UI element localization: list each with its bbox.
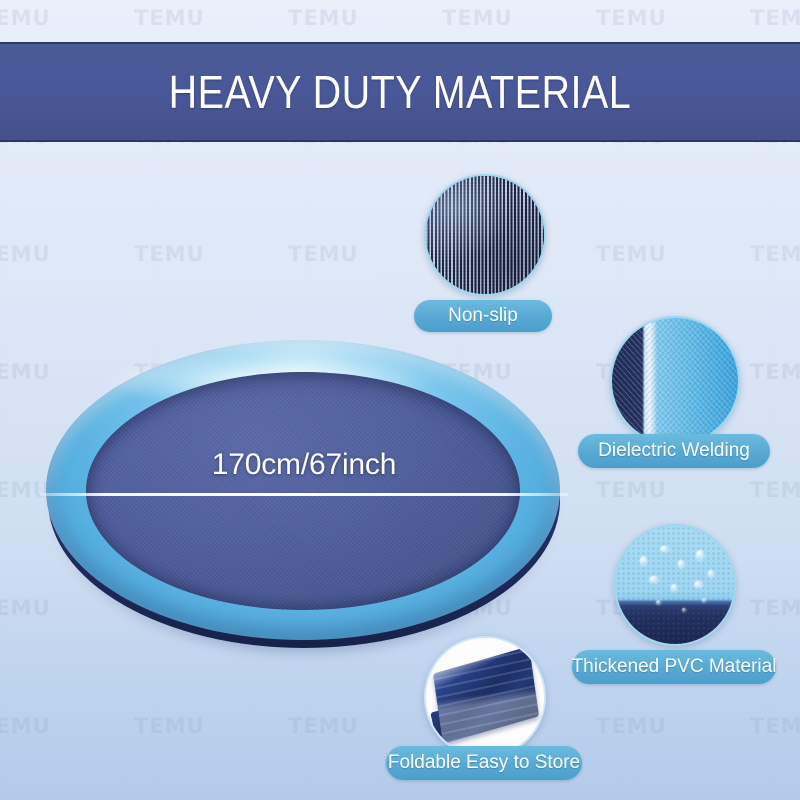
water-droplet: [656, 600, 661, 605]
callout-thickened-pvc: Thickened PVC Material: [614, 524, 736, 646]
watermark-text: TEMU: [750, 360, 800, 384]
water-droplet: [682, 608, 686, 612]
watermark-text: TEMU: [0, 6, 51, 30]
watermark-text: TEMU: [442, 6, 513, 30]
watermark-text: TEMU: [750, 242, 800, 266]
page-title: HEAVY DUTY MATERIAL: [169, 65, 631, 119]
callout-label-thickened-pvc: Thickened PVC Material: [572, 650, 776, 684]
dimension-line: [40, 493, 568, 496]
watermark-text: TEMU: [596, 478, 667, 502]
watermark-text: TEMU: [134, 6, 205, 30]
watermark-text: TEMU: [0, 714, 51, 738]
callout-non-slip: Non-slip: [424, 174, 546, 296]
watermark-text: TEMU: [750, 714, 800, 738]
weld-seam-icon: [610, 316, 740, 446]
callout-dielectric-welding: Dielectric Welding: [610, 316, 740, 446]
water-droplet-layers-icon: [614, 524, 736, 646]
folded-sheet-icon: [424, 636, 546, 758]
watermark-text: TEMU: [596, 714, 667, 738]
water-droplet: [696, 550, 704, 561]
water-droplet: [640, 556, 647, 566]
callout-label-foldable: Foldable Easy to Store: [386, 746, 582, 780]
mesh-shading-layer: [426, 176, 544, 294]
water-droplet: [649, 576, 659, 583]
infographic-canvas: TEMUTEMUTEMUTEMUTEMUTEMUTEMUTEMUTEMUTEMU…: [0, 0, 800, 800]
watermark-text: TEMU: [750, 478, 800, 502]
watermark-text: TEMU: [288, 6, 359, 30]
watermark-text: TEMU: [0, 242, 51, 266]
product-splash-surface: [86, 372, 520, 610]
callout-label-dielectric-welding: Dielectric Welding: [578, 434, 770, 468]
callout-label-non-slip: Non-slip: [414, 300, 552, 332]
water-droplet: [678, 560, 684, 569]
header-banner: HEAVY DUTY MATERIAL: [0, 42, 800, 142]
weld-texture-layer: [612, 318, 738, 444]
water-droplet: [708, 570, 714, 578]
watermark-text: TEMU: [134, 714, 205, 738]
folded-sheet-upper: [433, 646, 539, 744]
callout-foldable: Foldable Easy to Store: [424, 636, 546, 758]
watermark-text: TEMU: [750, 596, 800, 620]
watermark-text: TEMU: [750, 6, 800, 30]
watermark-text: TEMU: [134, 242, 205, 266]
watermark-text: TEMU: [288, 714, 359, 738]
watermark-text: TEMU: [596, 6, 667, 30]
watermark-text: TEMU: [596, 242, 667, 266]
water-droplet: [671, 584, 677, 592]
mesh-texture-icon: [424, 174, 546, 296]
water-droplet: [694, 581, 703, 588]
water-droplet: [660, 546, 669, 552]
dimension-label: 170cm/67inch: [44, 448, 564, 482]
water-droplet: [702, 598, 706, 603]
watermark-text: TEMU: [288, 242, 359, 266]
product-image-splash-pad: 170cm/67inch: [44, 336, 564, 656]
